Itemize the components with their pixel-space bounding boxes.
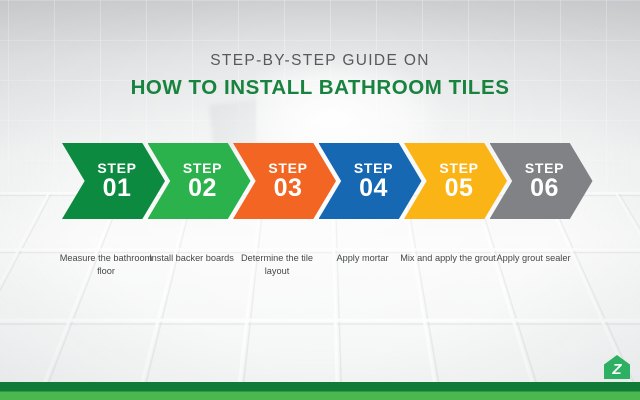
step-number-4: 04 bbox=[359, 175, 388, 202]
step-word-5: STEP bbox=[439, 161, 478, 175]
step-caption-row: Measure the bathroom floor Install backe… bbox=[62, 252, 592, 292]
infographic-canvas: STEP-BY-STEP GUIDE ON HOW TO INSTALL BAT… bbox=[0, 0, 640, 400]
step-caption-6: Apply grout sealer bbox=[486, 252, 582, 265]
step-caption-4: Apply mortar bbox=[315, 252, 411, 265]
footer-bar bbox=[0, 382, 640, 400]
step-number-2: 02 bbox=[188, 175, 217, 202]
step-arrow-row: STEP 01 STEP 02 STEP 03 STEP 04 STEP 05 … bbox=[62, 143, 578, 219]
svg-text:Z: Z bbox=[611, 361, 622, 378]
step-word-2: STEP bbox=[183, 161, 222, 175]
step-number-5: 05 bbox=[445, 175, 474, 202]
step-caption-5: Mix and apply the grout bbox=[400, 252, 496, 265]
page-title: HOW TO INSTALL BATHROOM TILES bbox=[0, 77, 640, 100]
step-arrow-1[interactable]: STEP 01 bbox=[62, 143, 165, 219]
step-word-1: STEP bbox=[97, 161, 136, 175]
step-caption-2: Install backer boards bbox=[144, 252, 240, 265]
step-number-6: 06 bbox=[530, 175, 559, 202]
step-word-4: STEP bbox=[354, 161, 393, 175]
step-caption-1: Measure the bathroom floor bbox=[58, 252, 154, 278]
house-z-logo-icon[interactable]: Z bbox=[603, 354, 631, 380]
step-word-3: STEP bbox=[268, 161, 307, 175]
title-block: STEP-BY-STEP GUIDE ON HOW TO INSTALL BAT… bbox=[0, 52, 640, 100]
step-caption-3: Determine the tile layout bbox=[229, 252, 325, 278]
subtitle: STEP-BY-STEP GUIDE ON bbox=[0, 52, 640, 69]
step-word-6: STEP bbox=[525, 161, 564, 175]
step-number-3: 03 bbox=[274, 175, 303, 202]
step-number-1: 01 bbox=[103, 175, 132, 202]
